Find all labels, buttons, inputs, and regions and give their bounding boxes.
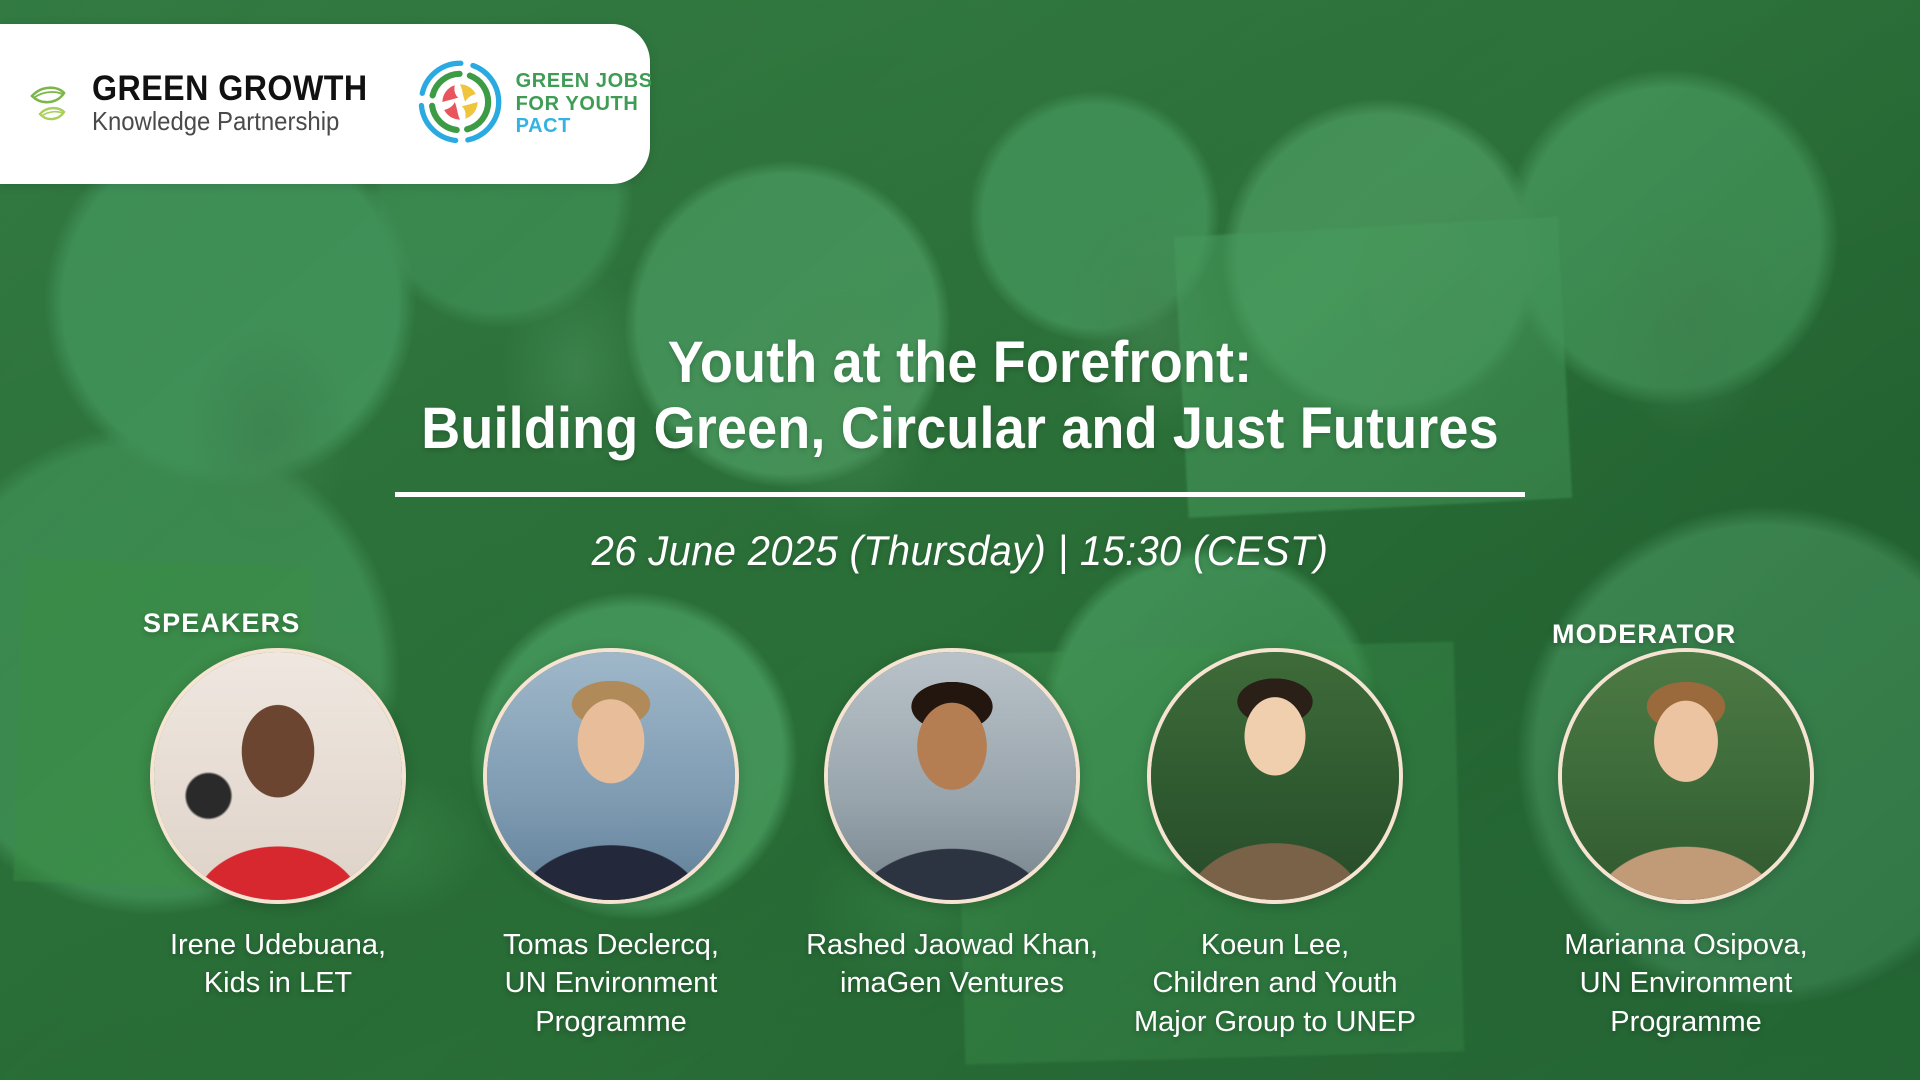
gjyp-line1: GREEN JOBS xyxy=(516,70,653,92)
event-datetime: 26 June 2025 (Thursday) | 15:30 (CEST) xyxy=(48,527,1872,575)
avatar xyxy=(150,648,406,904)
circular-globe-icon xyxy=(416,58,504,151)
speaker-card-2: Tomas Declercq, UN Environment Programme xyxy=(440,648,782,1041)
speaker-card-4: Koeun Lee, Children and Youth Major Grou… xyxy=(1110,648,1440,1041)
ggkp-line1: GREEN GROWTH xyxy=(92,71,368,106)
moderator-card-1: Marianna Osipova, UN Environment Program… xyxy=(1500,648,1872,1041)
avatar xyxy=(1558,648,1814,904)
avatar xyxy=(483,648,739,904)
portrait-photo xyxy=(828,652,1076,900)
portrait-photo xyxy=(1151,652,1399,900)
event-title-line1: Youth at the Forefront: xyxy=(668,330,1253,395)
ggkp-logo: GREEN GROWTH Knowledge Partnership xyxy=(26,71,392,137)
gjyp-line2: FOR YOUTH xyxy=(516,93,653,115)
leaf-icon xyxy=(26,76,82,132)
people-row: Irene Udebuana, Kids in LET Tomas Decler… xyxy=(0,648,1920,1068)
gjyp-logo: GREEN JOBS FOR YOUTH PACT xyxy=(416,58,653,151)
portrait-photo xyxy=(1562,652,1810,900)
gjyp-line3: PACT xyxy=(516,115,653,137)
speakers-label: SPEAKERS xyxy=(143,608,300,639)
gjyp-wordmark: GREEN JOBS FOR YOUTH PACT xyxy=(516,70,653,137)
speaker-caption: Koeun Lee, Children and Youth Major Grou… xyxy=(1110,926,1440,1041)
title-divider-rule xyxy=(395,492,1525,497)
avatar xyxy=(824,648,1080,904)
speaker-caption: Irene Udebuana, Kids in LET xyxy=(128,926,428,1003)
event-headline-block: Youth at the Forefront: Building Green, … xyxy=(0,330,1920,575)
ggkp-wordmark: GREEN GROWTH Knowledge Partnership xyxy=(92,71,392,137)
ggkp-line2: Knowledge Partnership xyxy=(92,106,368,137)
avatar xyxy=(1147,648,1403,904)
moderator-label: MODERATOR xyxy=(1552,619,1736,650)
portrait-photo xyxy=(487,652,735,900)
speaker-caption: Tomas Declercq, UN Environment Programme xyxy=(440,926,782,1041)
portrait-photo xyxy=(154,652,402,900)
speaker-card-3: Rashed Jaowad Khan, imaGen Ventures xyxy=(792,648,1112,1003)
logo-card: GREEN GROWTH Knowledge Partnership xyxy=(0,24,650,184)
event-title: Youth at the Forefront: Building Green, … xyxy=(67,330,1853,462)
speaker-caption: Rashed Jaowad Khan, imaGen Ventures xyxy=(792,926,1112,1003)
moderator-caption: Marianna Osipova, UN Environment Program… xyxy=(1500,926,1872,1041)
event-title-line2: Building Green, Circular and Just Future… xyxy=(421,396,1499,461)
poster-canvas: GREEN GROWTH Knowledge Partnership xyxy=(0,0,1920,1080)
speaker-card-1: Irene Udebuana, Kids in LET xyxy=(128,648,428,1003)
